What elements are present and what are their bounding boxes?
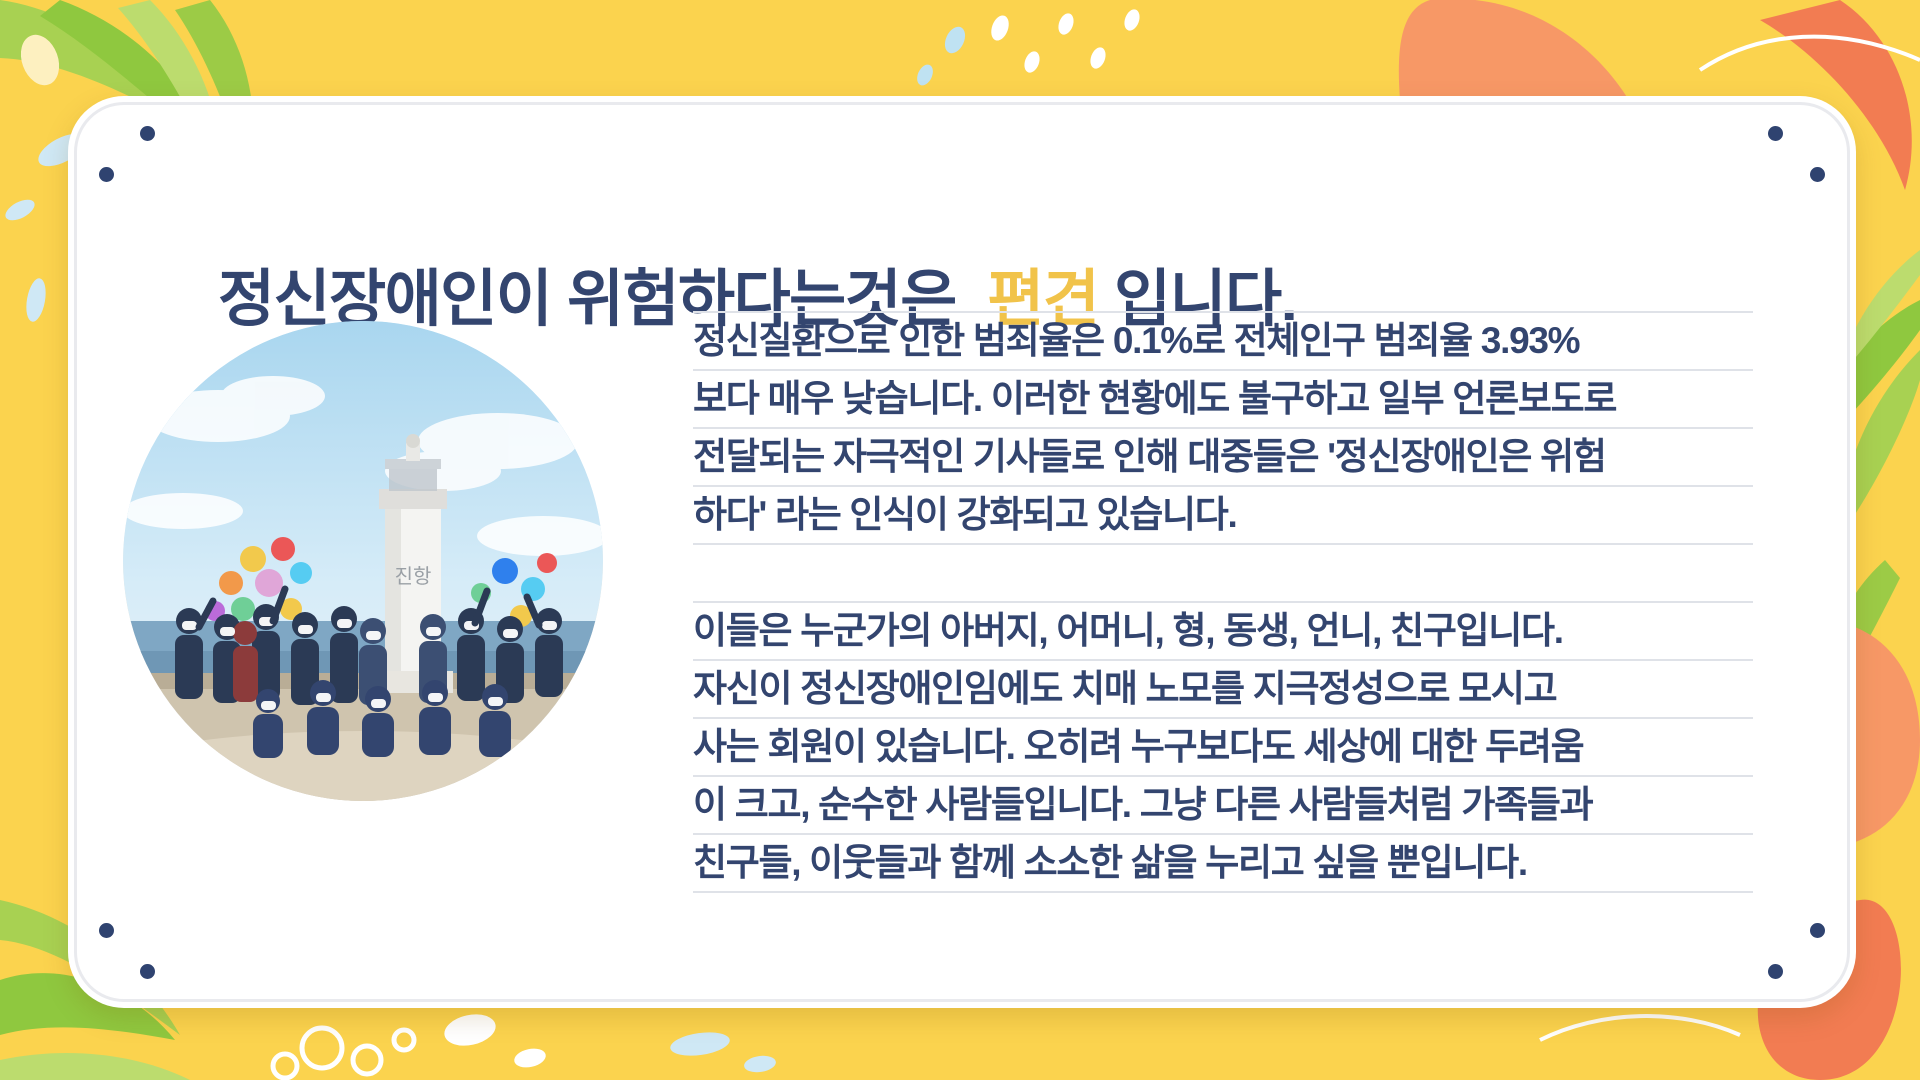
monument-caption: 진항	[395, 565, 432, 588]
body-line: 이 크고, 순수한 사람들입니다. 그냥 다른 사람들처럼 가족들과	[693, 775, 1753, 833]
poster-card: 정신장애인이 위험하다는것은 편견 입니다.	[68, 96, 1856, 1008]
photo-illustration: 진항	[123, 321, 603, 801]
body-line-spacer	[693, 543, 1753, 601]
screw-dot-top-left-2	[99, 167, 114, 182]
screw-dot-top-right-1	[1768, 126, 1783, 141]
body-line: 보다 매우 낮습니다. 이러한 현황에도 불구하고 일부 언론보도로	[693, 369, 1753, 427]
screw-dot-top-left-1	[140, 126, 155, 141]
body-line: 이들은 누군가의 아버지, 어머니, 형, 동생, 언니, 친구입니다.	[693, 601, 1753, 659]
photo-container: 진항	[123, 321, 603, 801]
body-line: 친구들, 이웃들과 함께 소소한 삶을 누리고 싶을 뿐입니다.	[693, 833, 1753, 893]
body-line: 전달되는 자극적인 기사들로 인해 대중들은 '정신장애인은 위험	[693, 427, 1753, 485]
group-photo-lighthouse: 진항	[123, 321, 603, 801]
body-line: 하다' 라는 인식이 강화되고 있습니다.	[693, 485, 1753, 543]
body-line: 사는 회원이 있습니다. 오히려 누구보다도 세상에 대한 두려움	[693, 717, 1753, 775]
screw-dot-bottom-left-1	[99, 923, 114, 938]
screw-dot-bottom-left-2	[140, 964, 155, 979]
screw-dot-top-right-2	[1810, 167, 1825, 182]
body-line: 자신이 정신장애인임에도 치매 노모를 지극정성으로 모시고	[693, 659, 1753, 717]
screw-dot-bottom-right-1	[1810, 923, 1825, 938]
screw-dot-bottom-right-2	[1768, 964, 1783, 979]
body-text: 정신질환으로 인한 범죄율은 0.1%로 전체인구 범죄율 3.93% 보다 매…	[693, 311, 1753, 893]
body-line: 정신질환으로 인한 범죄율은 0.1%로 전체인구 범죄율 3.93%	[693, 311, 1753, 369]
